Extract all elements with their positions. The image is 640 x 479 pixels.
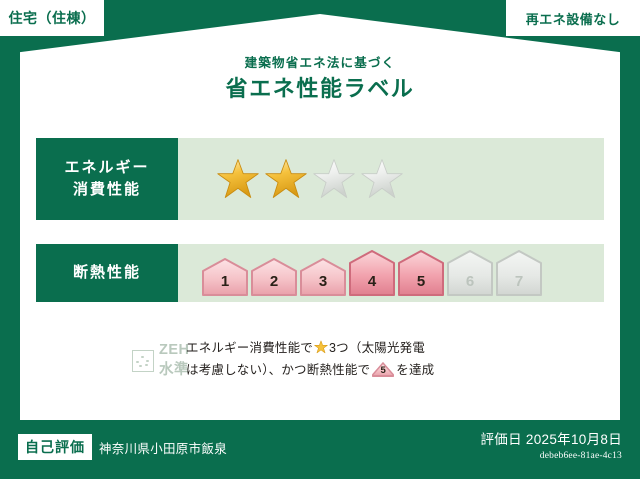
desc-part-3: は考慮しない）、かつ断熱性能で	[186, 363, 370, 377]
desc-part-1: エネルギー消費性能で	[186, 341, 313, 355]
grade-number: 2	[251, 273, 297, 290]
achievement-description: エネルギー消費性能で3つ（太陽光発電 は考慮しない）、かつ断熱性能で5を達成	[186, 330, 434, 382]
title-subtitle: 建築物省エネ法に基づく	[0, 56, 640, 71]
insulation-performance-label: 断熱性能	[36, 244, 178, 302]
star-icon	[312, 157, 356, 201]
grade-list: 1234567	[202, 250, 542, 296]
insulation-grade-5: 5	[398, 250, 444, 296]
star-rating	[178, 138, 604, 220]
grade-number: 7	[496, 273, 542, 290]
insulation-label-text: 断熱性能	[73, 262, 141, 284]
zeh-label: ZEH水準	[159, 342, 190, 379]
assessment-type-badge: 自己評価	[18, 434, 92, 460]
zeh-section: ZEH水準 エネルギー消費性能で3つ（太陽光発電 は考慮しない）、かつ断熱性能で…	[36, 330, 604, 382]
star-icon	[314, 340, 328, 354]
energy-performance-row: エネルギー 消費性能	[36, 138, 604, 220]
insulation-grade-7: 7	[496, 250, 542, 296]
zeh-mark: ZEH水準	[36, 330, 186, 379]
insulation-grade-band: 1234567	[178, 244, 604, 302]
footer-left: 自己評価 神奈川県小田原市飯泉	[18, 434, 227, 460]
star-icon	[360, 157, 404, 201]
footer-right: 評価日 2025年10月8日 debeb6ee-81ae-4c13	[480, 428, 622, 461]
footer: 自己評価 神奈川県小田原市飯泉 評価日 2025年10月8日 debeb6ee-…	[0, 420, 640, 479]
grade-number: 5	[398, 273, 444, 290]
label-identifier: debeb6ee-81ae-4c13	[480, 451, 622, 461]
insulation-performance-row: 断熱性能 1234567	[36, 244, 604, 302]
building-type-text: 住宅（住棟）	[9, 8, 96, 28]
inline-star-icon	[314, 340, 328, 354]
desc-part-4: を達成	[396, 363, 434, 377]
building-type-badge: 住宅（住棟）	[0, 0, 104, 36]
title-block: 建築物省エネ法に基づく 省エネ性能ラベル	[0, 56, 640, 102]
evaluation-date: 評価日 2025年10月8日	[480, 428, 622, 448]
inline-grade-badge: 5	[372, 362, 394, 377]
insulation-grade-4: 4	[349, 250, 395, 296]
page-title: 省エネ性能ラベル	[0, 76, 640, 102]
insulation-grade-2: 2	[251, 258, 297, 296]
star-icon	[264, 157, 308, 201]
energy-performance-label: 住宅（住棟） 再エネ設備なし 建築物省エネ法に基づく 省エネ性能ラベル エネルギ…	[0, 0, 640, 479]
grade-number: 6	[447, 273, 493, 290]
renewable-equipment-text: 再エネ設備なし	[526, 9, 621, 28]
desc-part-2: 3つ（太陽光発電	[329, 341, 425, 355]
insulation-grade-6: 6	[447, 250, 493, 296]
zeh-sparkle-icon	[132, 350, 154, 372]
star-icon	[216, 157, 260, 201]
insulation-grade-1: 1	[202, 258, 248, 296]
grade-number: 3	[300, 273, 346, 290]
renewable-equipment-badge: 再エネ設備なし	[506, 0, 640, 36]
property-address: 神奈川県小田原市飯泉	[99, 438, 227, 457]
insulation-grade-3: 3	[300, 258, 346, 296]
grade-number: 1	[202, 273, 248, 290]
energy-performance-label: エネルギー 消費性能	[36, 138, 178, 220]
inline-grade-number: 5	[372, 365, 394, 377]
energy-label-line2: 消費性能	[73, 179, 141, 201]
grade-number: 4	[349, 273, 395, 290]
energy-label-line1: エネルギー	[64, 157, 149, 179]
